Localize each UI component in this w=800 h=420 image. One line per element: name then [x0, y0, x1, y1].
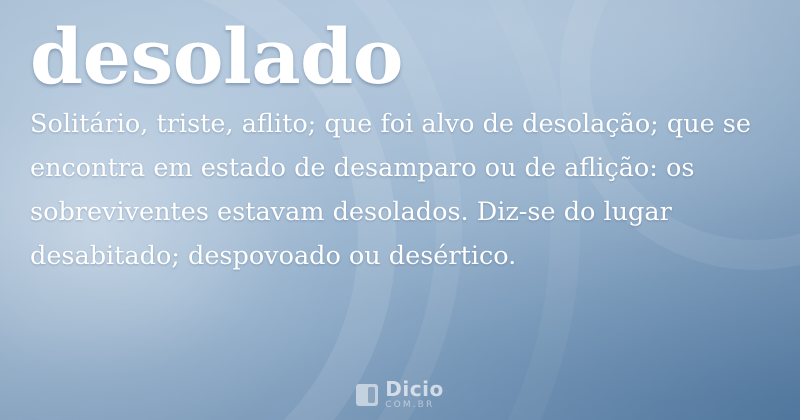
brand-name: Dicio — [385, 379, 443, 399]
definition-text: Solitário, triste, aflito; que foi alvo … — [30, 102, 770, 278]
headword: desolado — [30, 18, 770, 96]
definition-card: desolado Solitário, triste, aflito; que … — [0, 0, 800, 420]
dicio-square-icon — [356, 384, 378, 406]
brand-logo[interactable]: Dicio COM.BR — [0, 379, 800, 410]
entry-content: desolado Solitário, triste, aflito; que … — [0, 0, 800, 278]
brand-tld: COM.BR — [385, 401, 443, 410]
brand-wordmark: Dicio COM.BR — [385, 379, 443, 410]
